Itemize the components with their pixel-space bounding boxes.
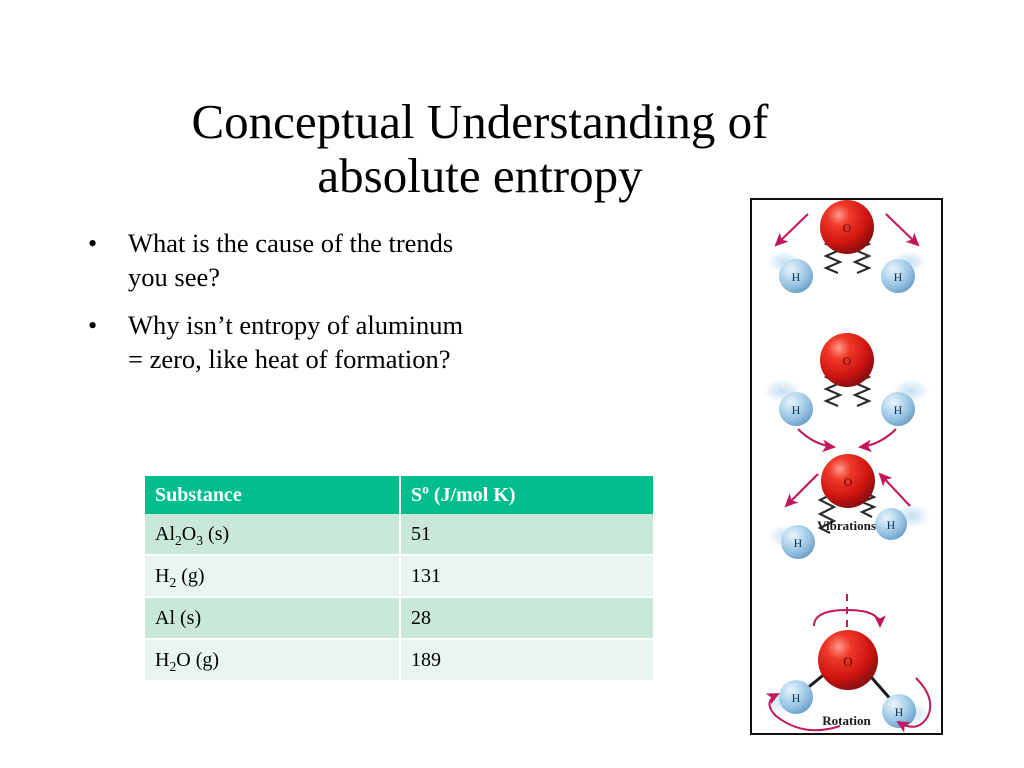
hydrogen-label: H <box>792 403 801 417</box>
table-header: Substance So (J/mol K) <box>145 476 653 514</box>
oxygen-label: O <box>843 221 852 235</box>
column-header-entropy-superscript: o <box>422 481 429 496</box>
page-title: Conceptual Understanding of absolute ent… <box>60 95 900 203</box>
column-header-substance: Substance <box>145 476 401 514</box>
molecule-symmetric-stretch: O H H <box>765 200 928 293</box>
oxygen-label: O <box>844 475 853 489</box>
table-row: Al (s) 28 <box>145 598 653 640</box>
hydrogen-label: H <box>894 270 903 284</box>
table-row: H2 (g) 131 <box>145 556 653 598</box>
oxygen-label: O <box>843 654 852 669</box>
figure-caption-rotation: Rotation <box>752 713 941 729</box>
bullet-marker-icon: • <box>88 227 97 260</box>
list-item: • Why isn’t entropy of aluminum = zero, … <box>80 309 480 377</box>
bullet-marker-icon: • <box>88 309 97 342</box>
cell-entropy-value: 51 <box>401 514 653 556</box>
cell-entropy-value: 131 <box>401 556 653 598</box>
table-body: Al2O3 (s) 51 H2 (g) 131 Al (s) 28 H2O (g… <box>145 514 653 682</box>
cell-substance: H2 (g) <box>145 556 401 598</box>
hydrogen-label: H <box>794 536 803 550</box>
entropy-table: Substance So (J/mol K) Al2O3 (s) 51 H2 (… <box>145 476 653 682</box>
cell-entropy-value: 28 <box>401 598 653 640</box>
hydrogen-label: H <box>792 270 801 284</box>
page-title-line-1: Conceptual Understanding of <box>60 95 900 149</box>
bullet-list: • What is the cause of the trends you se… <box>80 227 480 391</box>
motion-arrow <box>880 474 910 506</box>
table-row: Al2O3 (s) 51 <box>145 514 653 556</box>
motion-arrow <box>798 429 834 447</box>
motion-arrow <box>860 429 896 447</box>
figure-caption-vibrations: Vibrations <box>752 518 941 534</box>
motion-arrow <box>776 214 808 245</box>
hydrogen-label: H <box>894 403 903 417</box>
column-header-entropy: So (J/mol K) <box>401 476 653 514</box>
cell-substance: Al2O3 (s) <box>145 514 401 556</box>
cell-substance: H2O (g) <box>145 640 401 682</box>
molecule-rotation: O H H <box>762 594 932 730</box>
table-row: H2O (g) 189 <box>145 640 653 682</box>
table-header-row: Substance So (J/mol K) <box>145 476 653 514</box>
list-item: • What is the cause of the trends you se… <box>80 227 480 295</box>
bullet-text: What is the cause of the trends you see? <box>128 227 480 295</box>
cell-entropy-value: 189 <box>401 640 653 682</box>
bullet-text: Why isn’t entropy of aluminum = zero, li… <box>128 309 480 377</box>
molecular-motion-figure: O H H O H H <box>750 198 943 735</box>
column-header-entropy-symbol: S <box>411 484 422 506</box>
molecule-asymmetric-stretch: O H H <box>766 454 932 559</box>
cell-substance: Al (s) <box>145 598 401 640</box>
motion-arrow <box>886 214 918 245</box>
motion-arrow <box>786 474 818 506</box>
column-header-entropy-units: (J/mol K) <box>429 484 516 506</box>
hydrogen-label: H <box>792 691 801 705</box>
molecule-bend: O H H <box>761 333 932 447</box>
page-title-line-2: absolute entropy <box>60 149 900 203</box>
oxygen-label: O <box>843 354 852 368</box>
molecule-diagram-svg: O H H O H H <box>752 200 941 733</box>
